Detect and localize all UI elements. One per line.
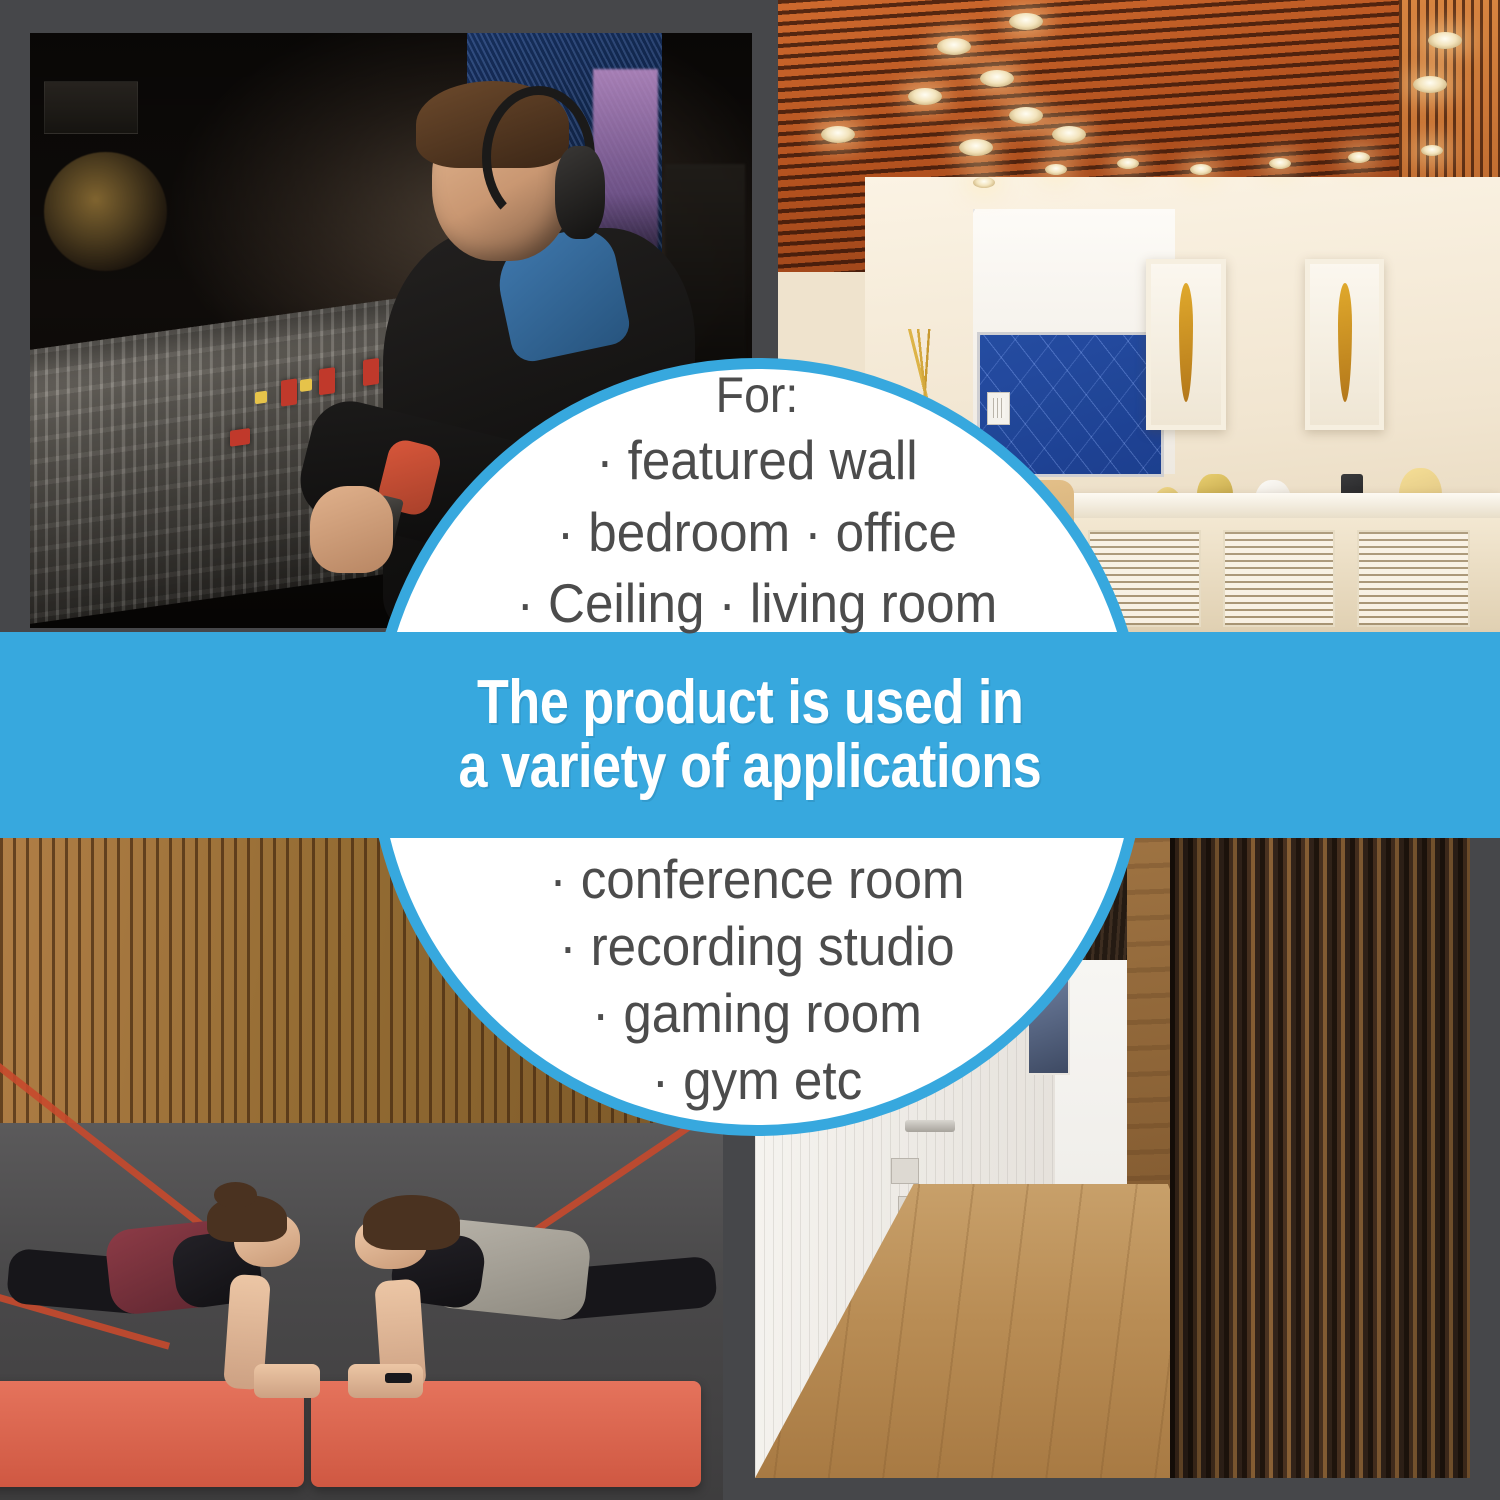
downlight-icon: [980, 70, 1014, 87]
console-yellow-knob: [255, 391, 267, 405]
person-plank-right: [333, 1182, 709, 1394]
right-person-watch: [385, 1373, 411, 1384]
wall-plate: [891, 1158, 920, 1184]
downlight-icon: [1348, 152, 1370, 163]
downlight-icon: [1413, 76, 1447, 93]
right-person-hair: [363, 1195, 461, 1250]
downlight-icon: [1428, 32, 1462, 49]
circle-heading: For:: [395, 366, 1119, 425]
downlight-icon: [959, 139, 993, 156]
door-handle: [905, 1120, 955, 1133]
left-person-bun: [214, 1182, 257, 1207]
person-plank-left: [14, 1182, 347, 1394]
circle-item-featured-wall: · featured wall: [395, 425, 1119, 497]
downlight-icon: [973, 177, 995, 188]
feather-artwork-frame: [1146, 259, 1225, 430]
circle-top-text-group: For: · featured wall · bedroom · office …: [368, 366, 1146, 640]
louvered-cabinet-door: [1223, 530, 1336, 628]
console-red-knob: [281, 378, 297, 406]
circle-item-bedroom-office: · bedroom · office: [395, 497, 1119, 569]
circle-item-conference-room: · conference room: [395, 846, 1119, 913]
infographic-canvas: For: · featured wall · bedroom · office …: [0, 0, 1500, 1500]
gold-feather: [1338, 283, 1352, 402]
banner-line-1: The product is used in: [477, 671, 1023, 735]
feather-artwork-frame: [1305, 259, 1384, 430]
louvered-cabinet-door: [1357, 530, 1470, 628]
headline-banner: The product is used in a variety of appl…: [0, 632, 1500, 838]
banner-line-2: a variety of applications: [459, 735, 1042, 799]
circle-item-gaming-room: · gaming room: [395, 980, 1119, 1047]
studio-rack-unit: [44, 81, 138, 135]
hall-slat-shading: [1170, 838, 1470, 1478]
circle-item-recording-studio: · recording studio: [395, 913, 1119, 980]
downlight-icon: [1009, 13, 1043, 30]
console-red-knob: [319, 368, 335, 396]
left-person-hand: [254, 1364, 321, 1398]
studio-speaker: [44, 152, 167, 271]
downlight-icon: [937, 38, 971, 55]
circle-item-gym-etc: · gym etc: [395, 1047, 1119, 1114]
headphone-earcup: [555, 146, 605, 239]
gold-feather: [1179, 283, 1193, 402]
downlight-icon: [1269, 158, 1291, 169]
circle-bottom-text-group: · conference room · recording studio · g…: [368, 846, 1146, 1114]
circle-item-ceiling-living-room: · Ceiling · living room: [395, 568, 1119, 640]
